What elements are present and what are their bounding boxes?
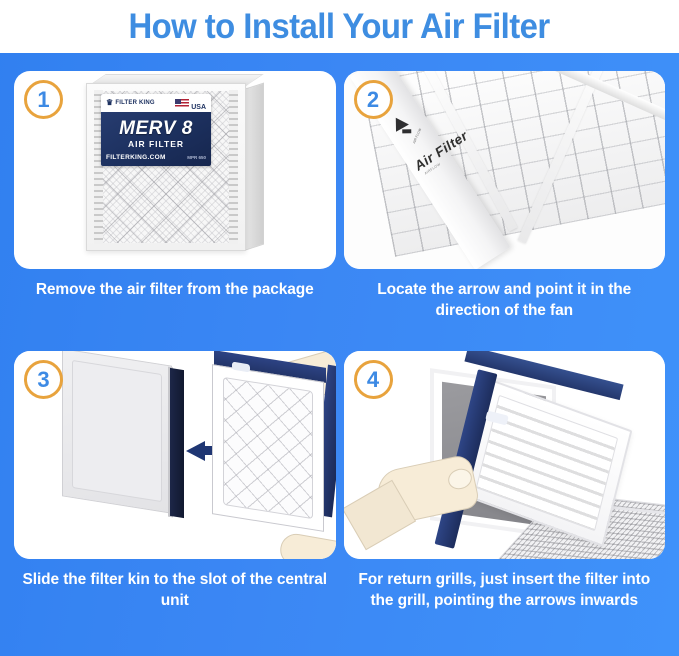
step-3: 3 Slide the filter kin to the slot of th…	[14, 351, 336, 652]
made-in-text: MADE IN	[191, 94, 206, 96]
label-subtitle: AIR FILTER	[101, 139, 211, 149]
step-2-badge: 2	[354, 80, 393, 119]
step-1-caption: Remove the air filter from the package	[14, 279, 336, 300]
airflow-arrow-label: AIR FLOW	[411, 128, 421, 145]
step-1-badge: 1	[24, 80, 63, 119]
central-unit-slot	[62, 351, 172, 514]
hand-lower	[278, 531, 336, 559]
replacement-filter	[212, 364, 324, 532]
step-4-number: 4	[367, 369, 379, 391]
mpr-rating: MPR 650	[187, 155, 206, 160]
airflow-arrow-tail	[402, 129, 411, 133]
step-3-number: 3	[37, 369, 49, 391]
brand-name: FILTER KING	[115, 100, 154, 106]
website-url: FILTERKING.COM	[106, 154, 166, 161]
step-2-number: 2	[367, 89, 379, 111]
filter-king-logo: ♛ FILTER KING	[106, 100, 155, 106]
central-unit-slot-inner	[72, 360, 162, 502]
label-footer-strip: FILTERKING.COM MPR 650	[106, 154, 206, 161]
label-header-strip: ♛ FILTER KING MADE IN USA	[101, 94, 211, 112]
step-3-badge: 3	[24, 360, 63, 399]
insert-direction-arrow-head	[186, 441, 205, 461]
replacement-filter-mesh	[223, 377, 313, 519]
step-1-number: 1	[37, 89, 49, 111]
filter-side-face	[244, 83, 264, 251]
usa-text: USA	[191, 104, 206, 111]
step-3-card: 3	[14, 351, 336, 559]
filter-product-label: ♛ FILTER KING MADE IN USA	[101, 94, 211, 166]
step-4-caption: For return grills, just insert the filte…	[344, 569, 666, 611]
air-filter-product-photo: ♛ FILTER KING MADE IN USA	[86, 83, 264, 255]
usa-flag-icon	[175, 99, 189, 108]
crown-icon: ♛	[106, 100, 113, 106]
made-in-usa-text: MADE IN USA	[191, 94, 206, 114]
step-2-card: AIR FLOW Air Filter AIRFLOW 2	[344, 71, 666, 269]
made-in-usa-badge: MADE IN USA	[175, 94, 206, 114]
merv-rating: MERV 8	[101, 118, 211, 140]
filter-front-face: ♛ FILTER KING MADE IN USA	[86, 83, 246, 251]
step-4: 4 For return grills, just insert the fil…	[344, 351, 666, 652]
header-band: How to Install Your Air Filter	[0, 0, 679, 53]
step-4-badge: 4	[354, 360, 393, 399]
step-2: AIR FLOW Air Filter AIRFLOW 2 Locate the…	[344, 71, 666, 347]
step-1-card: ♛ FILTER KING MADE IN USA	[14, 71, 336, 269]
steps-grid: ♛ FILTER KING MADE IN USA	[0, 53, 679, 656]
step-3-caption: Slide the filter kin to the slot of the …	[14, 569, 336, 611]
step-1: ♛ FILTER KING MADE IN USA	[14, 71, 336, 347]
step-4-card: 4	[344, 351, 666, 559]
infographic-page: How to Install Your Air Filter	[0, 0, 679, 656]
central-unit-edge-dark	[170, 368, 184, 518]
step-2-caption: Locate the arrow and point it in the dir…	[344, 279, 666, 321]
filter-rib-right	[229, 90, 238, 244]
page-title: How to Install Your Air Filter	[129, 9, 550, 45]
